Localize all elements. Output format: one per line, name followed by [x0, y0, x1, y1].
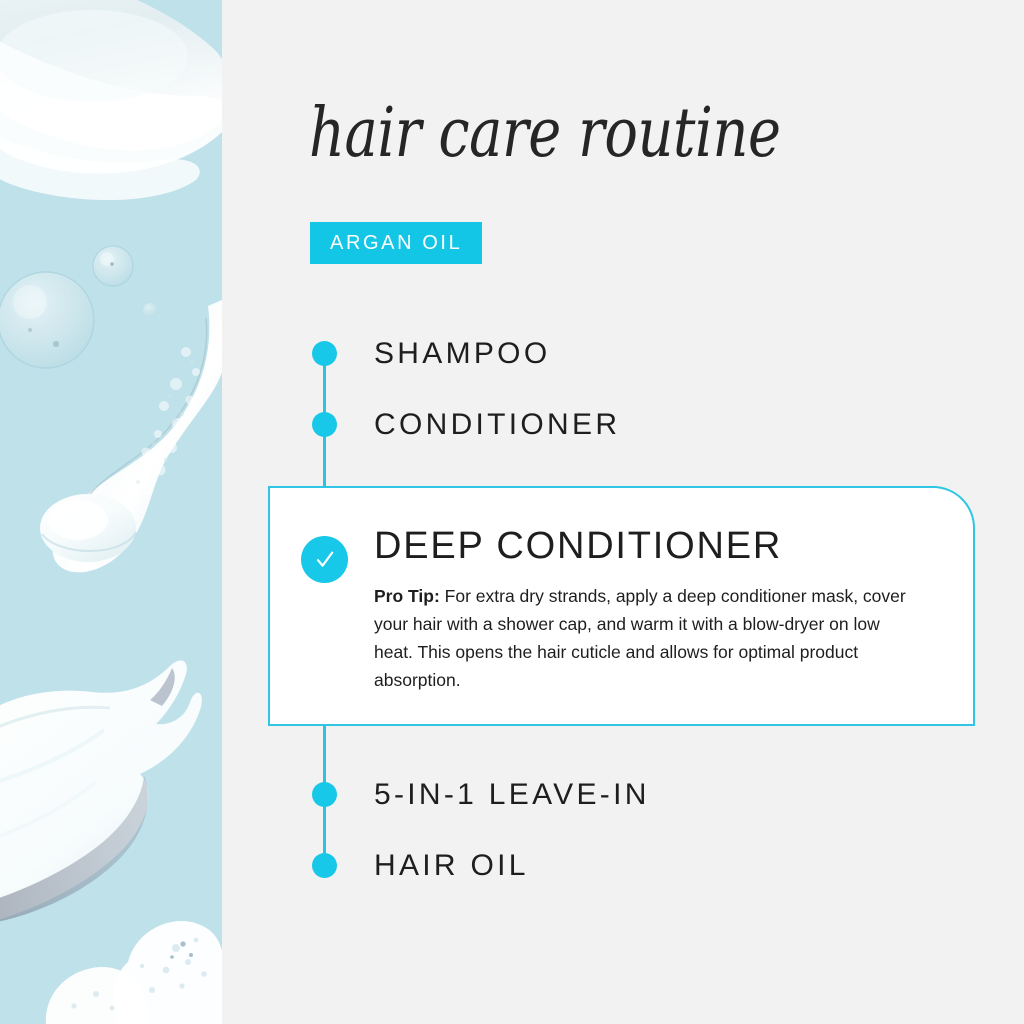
cream-dab: [40, 494, 136, 562]
content-panel: hair care routine ARGAN OIL SHAMPOO COND…: [222, 0, 1024, 1024]
timeline-dot-hair-oil: [312, 853, 337, 878]
step-label-leave-in[interactable]: 5-IN-1 LEAVE-IN: [374, 778, 650, 812]
step-label-conditioner[interactable]: CONDITIONER: [374, 408, 620, 442]
decorative-photo-strip: [0, 0, 222, 1024]
card-pro-tip-text: Pro Tip: For extra dry strands, apply a …: [374, 582, 914, 694]
gel-bubble-tiny: [143, 303, 157, 317]
timeline-dot-leave-in: [312, 782, 337, 807]
card-heading-deep-conditioner: DEEP CONDITIONER: [374, 525, 782, 568]
photo-strip-artwork: [0, 0, 222, 1024]
cream-swirl-top: [0, 0, 222, 200]
poster-canvas: hair care routine ARGAN OIL SHAMPOO COND…: [0, 0, 1024, 1024]
check-icon: [301, 536, 348, 583]
pro-tip-label: Pro Tip:: [374, 586, 440, 606]
pro-tip-body: For extra dry strands, apply a deep cond…: [374, 586, 906, 690]
gel-bubble-large: [0, 272, 94, 368]
page-title: hair care routine: [309, 100, 883, 168]
step-label-shampoo[interactable]: SHAMPOO: [374, 337, 550, 371]
step-label-hair-oil[interactable]: HAIR OIL: [374, 849, 529, 883]
timeline-dot-shampoo: [312, 341, 337, 366]
argan-oil-badge: ARGAN OIL: [310, 222, 482, 264]
timeline-dot-conditioner: [312, 412, 337, 437]
gel-bubble-small: [93, 246, 133, 286]
